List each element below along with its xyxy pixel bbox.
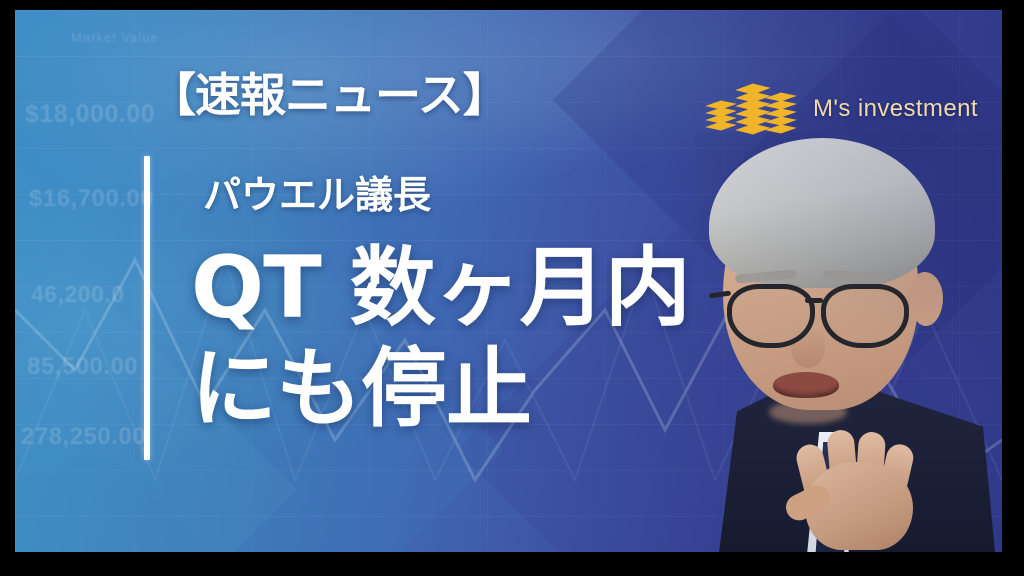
brand-name: M's investment [813, 95, 978, 123]
ticker-label: Market Value [71, 30, 159, 45]
hair [709, 138, 935, 288]
lens-left [727, 284, 815, 348]
video-thumbnail: Market Value $18,000.00 $16,700.00 46,20… [0, 0, 1024, 576]
headline-line-2: にも停止 [191, 339, 690, 440]
ticker-value: 46,200.0 [31, 281, 125, 308]
portrait-jerome-powell [695, 132, 995, 552]
ticker-value: $16,700.00 [29, 185, 154, 213]
headline-line-1: QT 数ヶ月内 [191, 238, 690, 339]
glasses-bridge [805, 298, 823, 303]
eyeglasses-icon [725, 284, 921, 340]
ticker-value: 278,250.00 [21, 423, 146, 451]
raised-hand [781, 418, 931, 550]
glasses-temple [709, 290, 731, 298]
buildings-bars-icon [705, 80, 797, 138]
brand-logo: M's investment [705, 80, 978, 138]
kicker-text: パウエル議長 [203, 176, 431, 214]
lens-right [821, 284, 909, 348]
thumbnail-canvas: Market Value $18,000.00 $16,700.00 46,20… [15, 10, 1002, 552]
mouth [773, 372, 839, 398]
breaking-news-badge: 【速報ニュース】 [150, 72, 508, 118]
ticker-value: 85,500.00 [27, 353, 138, 381]
page-title: QT 数ヶ月内 にも停止 [191, 238, 690, 441]
ticker-value: $18,000.00 [25, 100, 155, 129]
accent-bar [144, 156, 150, 460]
